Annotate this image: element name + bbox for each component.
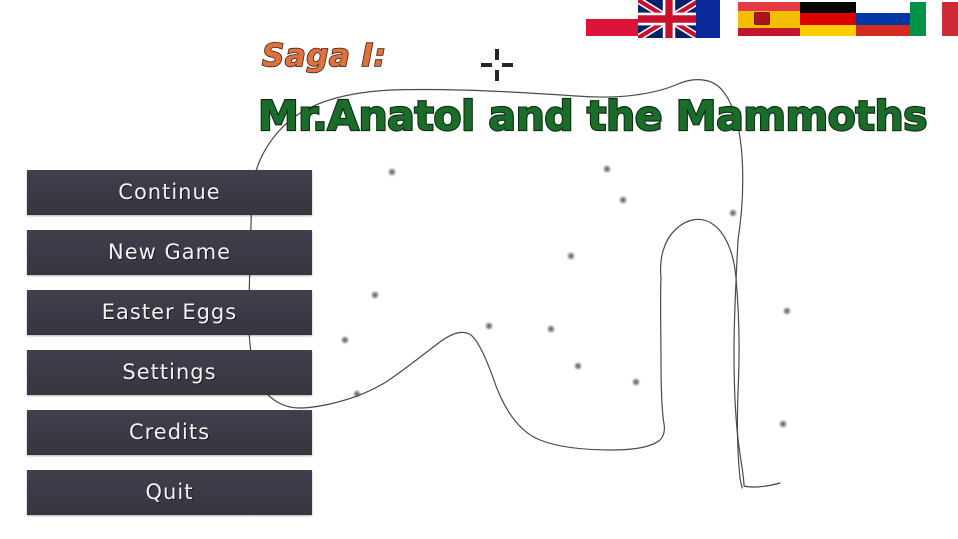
mammoth-rear-outline bbox=[734, 240, 744, 486]
saga-subtitle: Saga I: bbox=[262, 38, 387, 74]
fur-dot bbox=[620, 197, 626, 203]
menu-button-quit[interactable]: Quit bbox=[27, 470, 312, 515]
crosshair-arm-bottom bbox=[495, 70, 499, 81]
mammoth-front-leg-outline bbox=[661, 219, 742, 488]
fur-dot bbox=[372, 292, 378, 298]
fur-dot bbox=[575, 363, 581, 369]
menu-button-continue[interactable]: Continue bbox=[27, 170, 312, 215]
flag-spain[interactable] bbox=[738, 2, 800, 36]
fur-dot bbox=[780, 421, 786, 427]
crosshair-arm-top bbox=[495, 49, 499, 60]
game-main-menu-screen: Saga I: Mr.Anatol and the Mammoths Conti… bbox=[0, 0, 958, 539]
fur-dot bbox=[486, 323, 492, 329]
main-menu: Continue New Game Easter Eggs Settings C… bbox=[27, 170, 312, 515]
fur-dot bbox=[354, 391, 360, 397]
menu-button-credits[interactable]: Credits bbox=[27, 410, 312, 455]
mammoth-rear-foot bbox=[744, 483, 780, 487]
menu-button-settings[interactable]: Settings bbox=[27, 350, 312, 395]
menu-button-easter-eggs[interactable]: Easter Eggs bbox=[27, 290, 312, 335]
fur-dot bbox=[389, 169, 395, 175]
fur-dot bbox=[633, 379, 639, 385]
menu-button-new-game[interactable]: New Game bbox=[27, 230, 312, 275]
game-title: Mr.Anatol and the Mammoths bbox=[258, 92, 927, 140]
fur-dot bbox=[730, 210, 736, 216]
crosshair-arm-left bbox=[481, 63, 492, 67]
flag-russia[interactable] bbox=[856, 2, 918, 36]
flag-united-kingdom[interactable] bbox=[638, 0, 700, 38]
mammoth-belly-outline bbox=[300, 332, 612, 450]
fur-dot bbox=[342, 337, 348, 343]
fur-dot bbox=[784, 308, 790, 314]
fur-dot bbox=[604, 166, 610, 172]
flag-italy[interactable] bbox=[910, 2, 958, 36]
flag-france[interactable] bbox=[696, 0, 720, 38]
spain-coat-of-arms-icon bbox=[754, 12, 770, 25]
crosshair-arm-right bbox=[502, 63, 513, 67]
fur-dot bbox=[548, 326, 554, 332]
flag-germany[interactable] bbox=[800, 2, 862, 36]
crosshair-cursor-icon bbox=[497, 65, 498, 66]
fur-dot bbox=[568, 253, 574, 259]
mammoth-inner-leg-outline bbox=[612, 278, 664, 450]
